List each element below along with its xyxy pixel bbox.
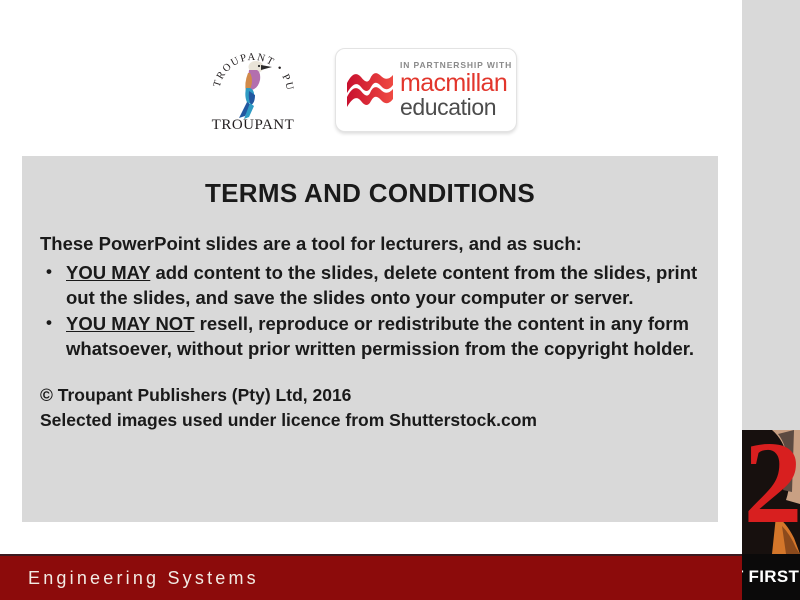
copyright-line: © Troupant Publishers (Pty) Ltd, 2016 — [40, 383, 702, 408]
bullet-lead-emphasis: YOU MAY — [66, 262, 150, 283]
copyright-block: © Troupant Publishers (Pty) Ltd, 2016 Se… — [40, 383, 702, 433]
bullet-lead-emphasis: YOU MAY NOT — [66, 313, 195, 334]
right-side-rail — [742, 0, 800, 430]
page-title: TERMS AND CONDITIONS — [38, 178, 702, 209]
macmillan-education-logo: IN PARTNERSHIP WITH macmillan education — [335, 48, 517, 132]
macmillan-name: macmillan — [400, 72, 512, 96]
tvet-first-label: TVET FIRST — [742, 567, 799, 587]
macmillan-m-mark-icon — [344, 63, 396, 117]
bullet-body-text: add content to the slides, delete conten… — [66, 262, 697, 308]
brand-number-block: 2 — [742, 430, 800, 554]
terms-and-conditions-panel: TERMS AND CONDITIONS These PowerPoint sl… — [22, 156, 718, 522]
terms-bullet-list: YOU MAY add content to the slides, delet… — [38, 261, 702, 361]
intro-text: These PowerPoint slides are a tool for l… — [40, 233, 702, 255]
troupant-publishers-logo: TROUPANT • PUBLISHERS TROUPANT — [205, 42, 301, 138]
volume-number: 2 — [742, 430, 800, 542]
troupant-wordmark: TROUPANT — [205, 117, 301, 134]
macmillan-subtitle: education — [400, 96, 512, 119]
roller-bird-icon — [235, 58, 275, 120]
tvet-first-brand: TVET FIRST — [742, 554, 800, 600]
list-item: YOU MAY add content to the slides, delet… — [38, 261, 702, 310]
subject-title: Engineering Systems — [28, 568, 259, 589]
logo-row: TROUPANT • PUBLISHERS TROUPANT — [0, 40, 722, 140]
list-item: YOU MAY NOT resell, reproduce or redistr… — [38, 312, 702, 361]
image-licence-line: Selected images used under licence from … — [40, 408, 702, 433]
footer-bar: Engineering Systems — [0, 554, 742, 600]
